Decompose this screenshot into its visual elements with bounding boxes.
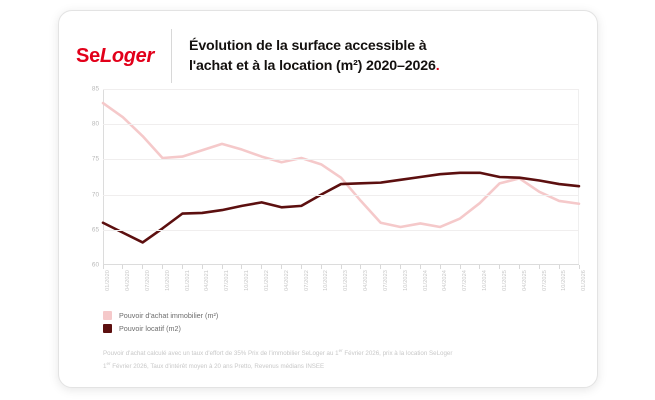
x-axis-tick	[341, 265, 342, 269]
footnote-line-2-b: Février 2026, Taux d'intérêt moyen à 20 …	[111, 363, 325, 370]
gridline	[103, 89, 579, 90]
x-axis-tick-label: 07/2022	[304, 270, 310, 291]
x-axis-tick-label: 04/2025	[522, 270, 528, 291]
x-axis-tick	[103, 265, 104, 269]
x-axis-tick	[420, 265, 421, 269]
x-axis-tick-label: 04/2024	[442, 270, 448, 291]
y-axis-tick-label: 80	[92, 121, 99, 128]
x-axis-tick	[241, 265, 242, 269]
x-axis-tick-label: 01/2022	[264, 270, 270, 291]
x-axis-tick	[360, 265, 361, 269]
x-axis-tick-label: 07/2023	[383, 270, 389, 291]
y-axis-tick-label: 65	[92, 226, 99, 233]
x-axis-tick-label: 01/2021	[185, 270, 191, 291]
legend-item[interactable]: Pouvoir d'achat immobilier (m²)	[103, 311, 218, 320]
title-line-2-text: l'achat et à la location (m²) 2020–2026	[189, 58, 436, 74]
x-axis-tick-label: 01/2025	[502, 270, 508, 291]
y-axis-tick-label: 60	[92, 262, 99, 269]
x-axis-tick	[182, 265, 183, 269]
legend-swatch	[103, 324, 112, 333]
x-axis-tick	[440, 265, 441, 269]
footnote-line-1-a: Pouvoir d'achat calculé avec un taux d'e…	[103, 350, 339, 357]
x-axis-labels: 01/202004/202007/202010/202001/202104/20…	[103, 270, 579, 298]
chart-legend: Pouvoir d'achat immobilier (m²)Pouvoir l…	[103, 311, 218, 337]
x-axis-tick-label: 10/2023	[403, 270, 409, 291]
gridline	[103, 159, 579, 160]
x-axis-tick	[479, 265, 480, 269]
x-axis-tick-label: 07/2020	[145, 270, 151, 291]
screenshot-root: SeLoger Évolution de la surface accessib…	[0, 0, 655, 400]
legend-item[interactable]: Pouvoir locatif (m2)	[103, 324, 218, 333]
x-axis-tick	[162, 265, 163, 269]
x-axis-tick-label: 04/2022	[284, 270, 290, 291]
chart-footnote: Pouvoir d'achat calculé avec un taux d'e…	[103, 347, 573, 373]
plot-area	[103, 89, 579, 265]
x-axis-tick-label: 10/2024	[482, 270, 488, 291]
x-axis-tick	[519, 265, 520, 269]
gridline	[103, 230, 579, 231]
chart-plot: 606570758085 01/202004/202007/202010/202…	[79, 89, 579, 299]
page-title: Évolution de la surface accessible à l'a…	[172, 36, 440, 76]
x-axis-tick-label: 01/2020	[105, 270, 111, 291]
x-axis-tick	[400, 265, 401, 269]
legend-label: Pouvoir locatif (m2)	[119, 324, 181, 333]
x-axis-tick-label: 01/2026	[581, 270, 587, 291]
x-axis-tick	[460, 265, 461, 269]
card-header: SeLoger Évolution de la surface accessib…	[59, 25, 597, 87]
footnote-line-2: 1er Février 2026, Taux d'intérêt moyen à…	[103, 360, 573, 373]
seloger-logo: SeLoger	[59, 45, 171, 68]
x-axis-tick-label: 04/2021	[204, 270, 210, 291]
series-line	[103, 173, 579, 243]
legend-swatch	[103, 311, 112, 320]
gridline	[103, 195, 579, 196]
series-lines	[103, 89, 579, 265]
footnote-line-1-b: Février 2026, prix à la location SeLoger	[343, 350, 453, 357]
title-accent-dot: .	[436, 58, 440, 74]
x-axis-tick-label: 07/2025	[542, 270, 548, 291]
x-axis-tick-label: 10/2022	[323, 270, 329, 291]
x-axis-tick-label: 01/2024	[423, 270, 429, 291]
x-axis-tick	[222, 265, 223, 269]
legend-label: Pouvoir d'achat immobilier (m²)	[119, 311, 218, 320]
x-axis-tick	[142, 265, 143, 269]
y-axis-tick-label: 85	[92, 86, 99, 93]
title-line-2: l'achat et à la location (m²) 2020–2026.	[189, 56, 440, 76]
gridline	[103, 124, 579, 125]
x-axis-tick-label: 10/2025	[561, 270, 567, 291]
x-axis-tick-label: 01/2023	[343, 270, 349, 291]
x-axis-tick-label: 10/2021	[244, 270, 250, 291]
logo-text-italic: Loger	[100, 45, 154, 67]
x-axis-tick	[202, 265, 203, 269]
x-axis-tick	[380, 265, 381, 269]
x-axis-tick-label: 07/2021	[224, 270, 230, 291]
logo-text-upright: Se	[76, 45, 100, 67]
y-axis-tick-label: 75	[92, 156, 99, 163]
x-axis-tick	[321, 265, 322, 269]
y-axis-tick-label: 70	[92, 191, 99, 198]
x-axis-tick-label: 07/2024	[462, 270, 468, 291]
x-axis-tick	[261, 265, 262, 269]
x-axis-tick	[579, 265, 580, 269]
x-axis-tick-label: 04/2020	[125, 270, 131, 291]
x-axis-tick-label: 10/2020	[165, 270, 171, 291]
x-axis-tick-label: 04/2023	[363, 270, 369, 291]
x-axis-tick	[301, 265, 302, 269]
x-axis-tick	[281, 265, 282, 269]
x-axis-tick	[539, 265, 540, 269]
chart-card: SeLoger Évolution de la surface accessib…	[58, 10, 598, 388]
x-axis-tick	[499, 265, 500, 269]
x-axis-tick	[559, 265, 560, 269]
footnote-line-1: Pouvoir d'achat calculé avec un taux d'e…	[103, 347, 573, 360]
x-axis-tick	[122, 265, 123, 269]
title-line-1: Évolution de la surface accessible à	[189, 36, 440, 56]
y-axis-labels: 606570758085	[79, 89, 101, 265]
series-line	[103, 103, 579, 227]
